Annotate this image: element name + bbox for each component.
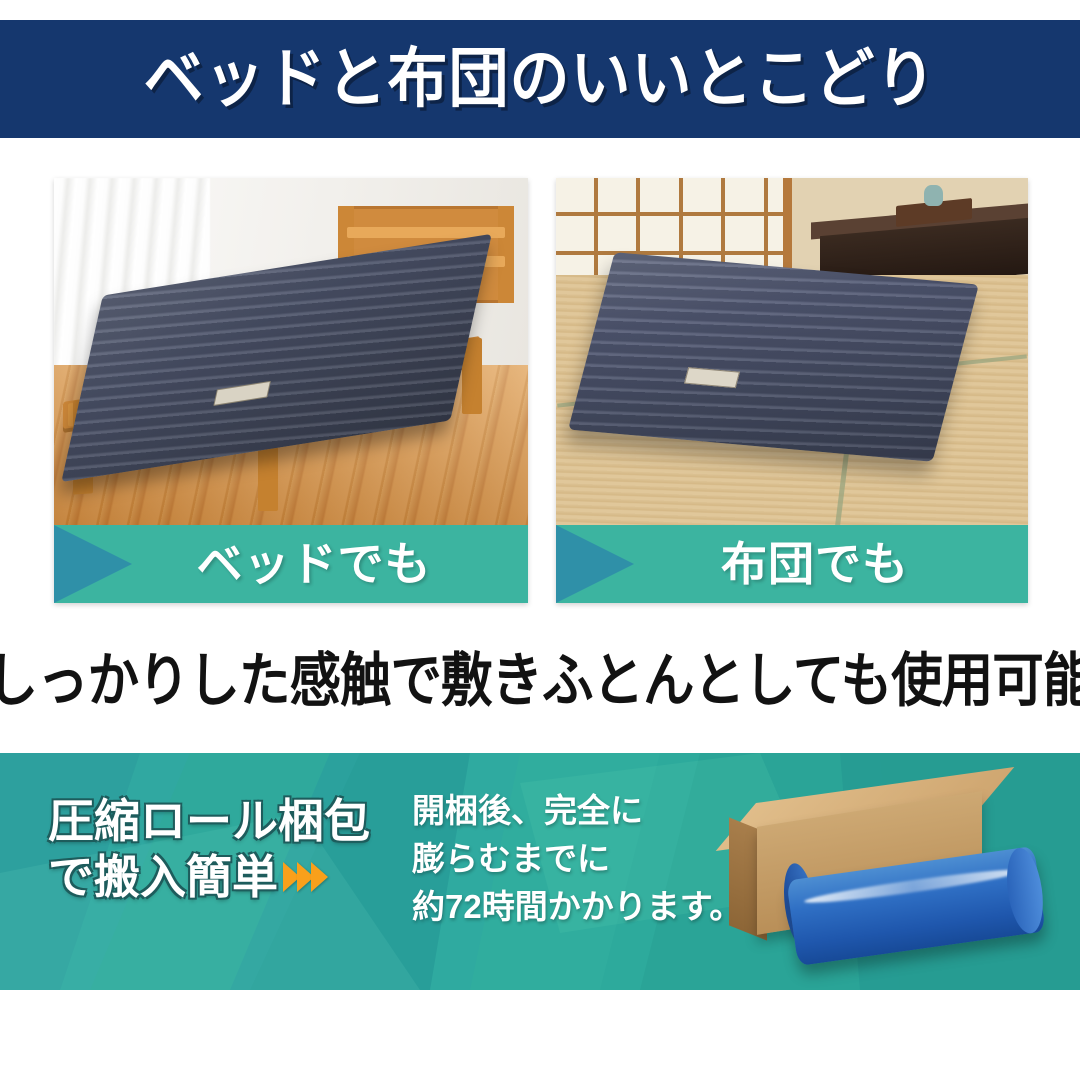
futon-mattress-decor	[568, 252, 978, 461]
promo-note: 開梱後、完全に 膨らむまでに 約72時間かかります。	[412, 787, 742, 932]
card-bed: ベッドでも	[54, 178, 528, 603]
triangle-arrow-icon	[54, 525, 132, 603]
card-futon: 布団でも	[556, 178, 1028, 603]
wooden-bed-with-mattress-photo	[54, 178, 528, 525]
mattress-label-tag-decor	[684, 367, 739, 387]
page-title: ベッドと布団のいいとこどり	[144, 47, 937, 112]
tagline: しっかりした感触で敷きふとんとしても使用可能	[0, 630, 1080, 720]
promo-headline: 圧縮ロール梱包 で搬入簡単	[48, 793, 398, 905]
chevron-right-icon	[311, 862, 328, 892]
photo-card-group: ベッドでも	[0, 178, 1080, 603]
promo-headline-line1: 圧縮ロール梱包	[48, 793, 398, 849]
packaging-artwork	[705, 775, 1065, 975]
ad-page: ベッドと布団のいいとこどり	[0, 0, 1080, 1080]
promo-note-line-1: 開梱後、完全に	[412, 787, 742, 835]
caption-label-futon: 布団でも	[675, 541, 909, 587]
header-banner: ベッドと布団のいいとこどり	[0, 20, 1080, 138]
promo-section: 圧縮ロール梱包 で搬入簡単 開梱後、完全に 膨らむまでに 約72時間かかります。	[0, 753, 1080, 990]
caption-bar-futon: 布団でも	[556, 525, 1028, 603]
promo-headline-line2: で搬入簡単	[48, 849, 278, 905]
mattress-label-tag-decor	[214, 381, 272, 406]
vase-decor	[924, 185, 943, 206]
futon-on-tatami-photo	[556, 178, 1028, 525]
chevrons-group	[286, 862, 328, 892]
tagline-text: しっかりした感触で敷きふとんとしても使用可能	[0, 633, 1080, 717]
caption-bar-bed: ベッドでも	[54, 525, 528, 603]
triangle-arrow-icon	[556, 525, 634, 603]
promo-note-line-2: 膨らむまでに	[412, 835, 742, 883]
caption-label-bed: ベッドでも	[151, 541, 432, 587]
promo-note-line-3: 約72時間かかります。	[412, 883, 742, 931]
